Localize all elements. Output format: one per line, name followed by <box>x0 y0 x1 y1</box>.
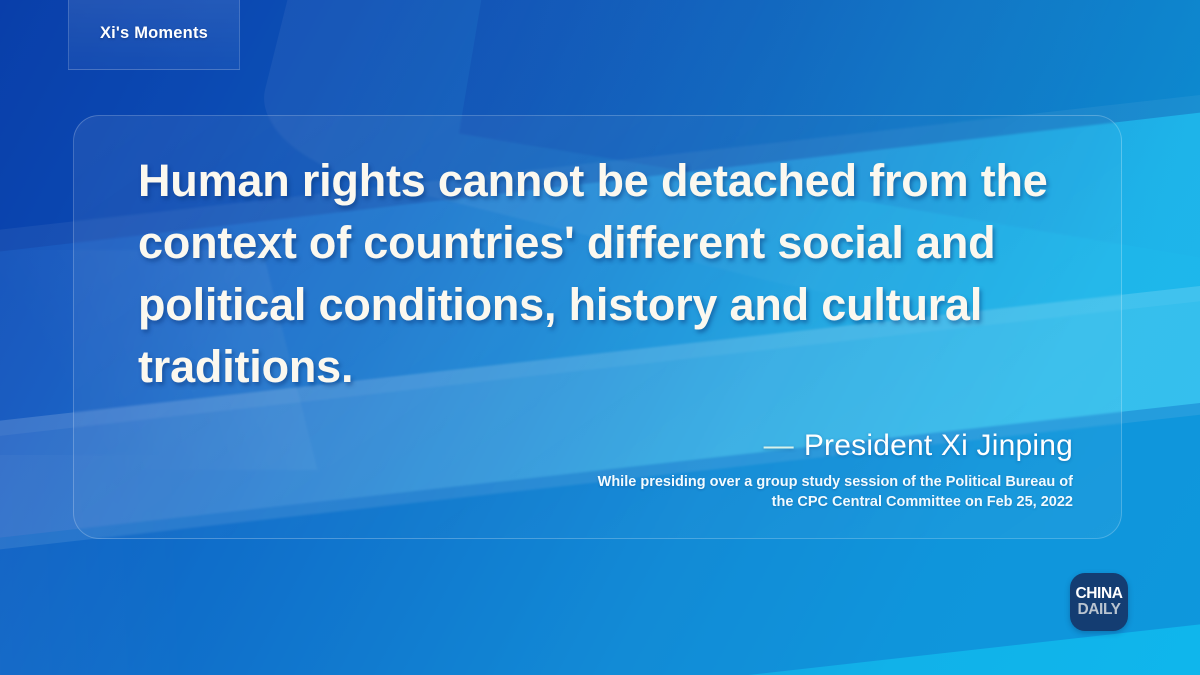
series-tab-label: Xi's Moments <box>100 24 208 43</box>
quote-card: Human rights cannot be detached from the… <box>73 115 1122 539</box>
china-daily-logo-line-2: DAILY <box>1077 602 1120 618</box>
em-dash-icon: — <box>764 429 794 462</box>
quote-text: Human rights cannot be detached from the… <box>138 150 1078 398</box>
attribution-context-line-2: the CPC Central Committee on Feb 25, 202… <box>353 492 1073 512</box>
china-daily-logo: CHINA DAILY <box>1070 573 1128 631</box>
attribution-speaker-name: President Xi Jinping <box>804 429 1073 462</box>
attribution-block: —President Xi Jinping While presiding ov… <box>353 429 1073 512</box>
attribution-context-line-1: While presiding over a group study sessi… <box>353 472 1073 492</box>
china-daily-logo-line-1: CHINA <box>1075 586 1122 602</box>
attribution-speaker: —President Xi Jinping <box>353 429 1073 463</box>
series-tab-xis-moments[interactable]: Xi's Moments <box>68 0 240 70</box>
attribution-context: While presiding over a group study sessi… <box>353 472 1073 512</box>
poster-canvas: Xi's Moments Human rights cannot be deta… <box>0 0 1200 675</box>
